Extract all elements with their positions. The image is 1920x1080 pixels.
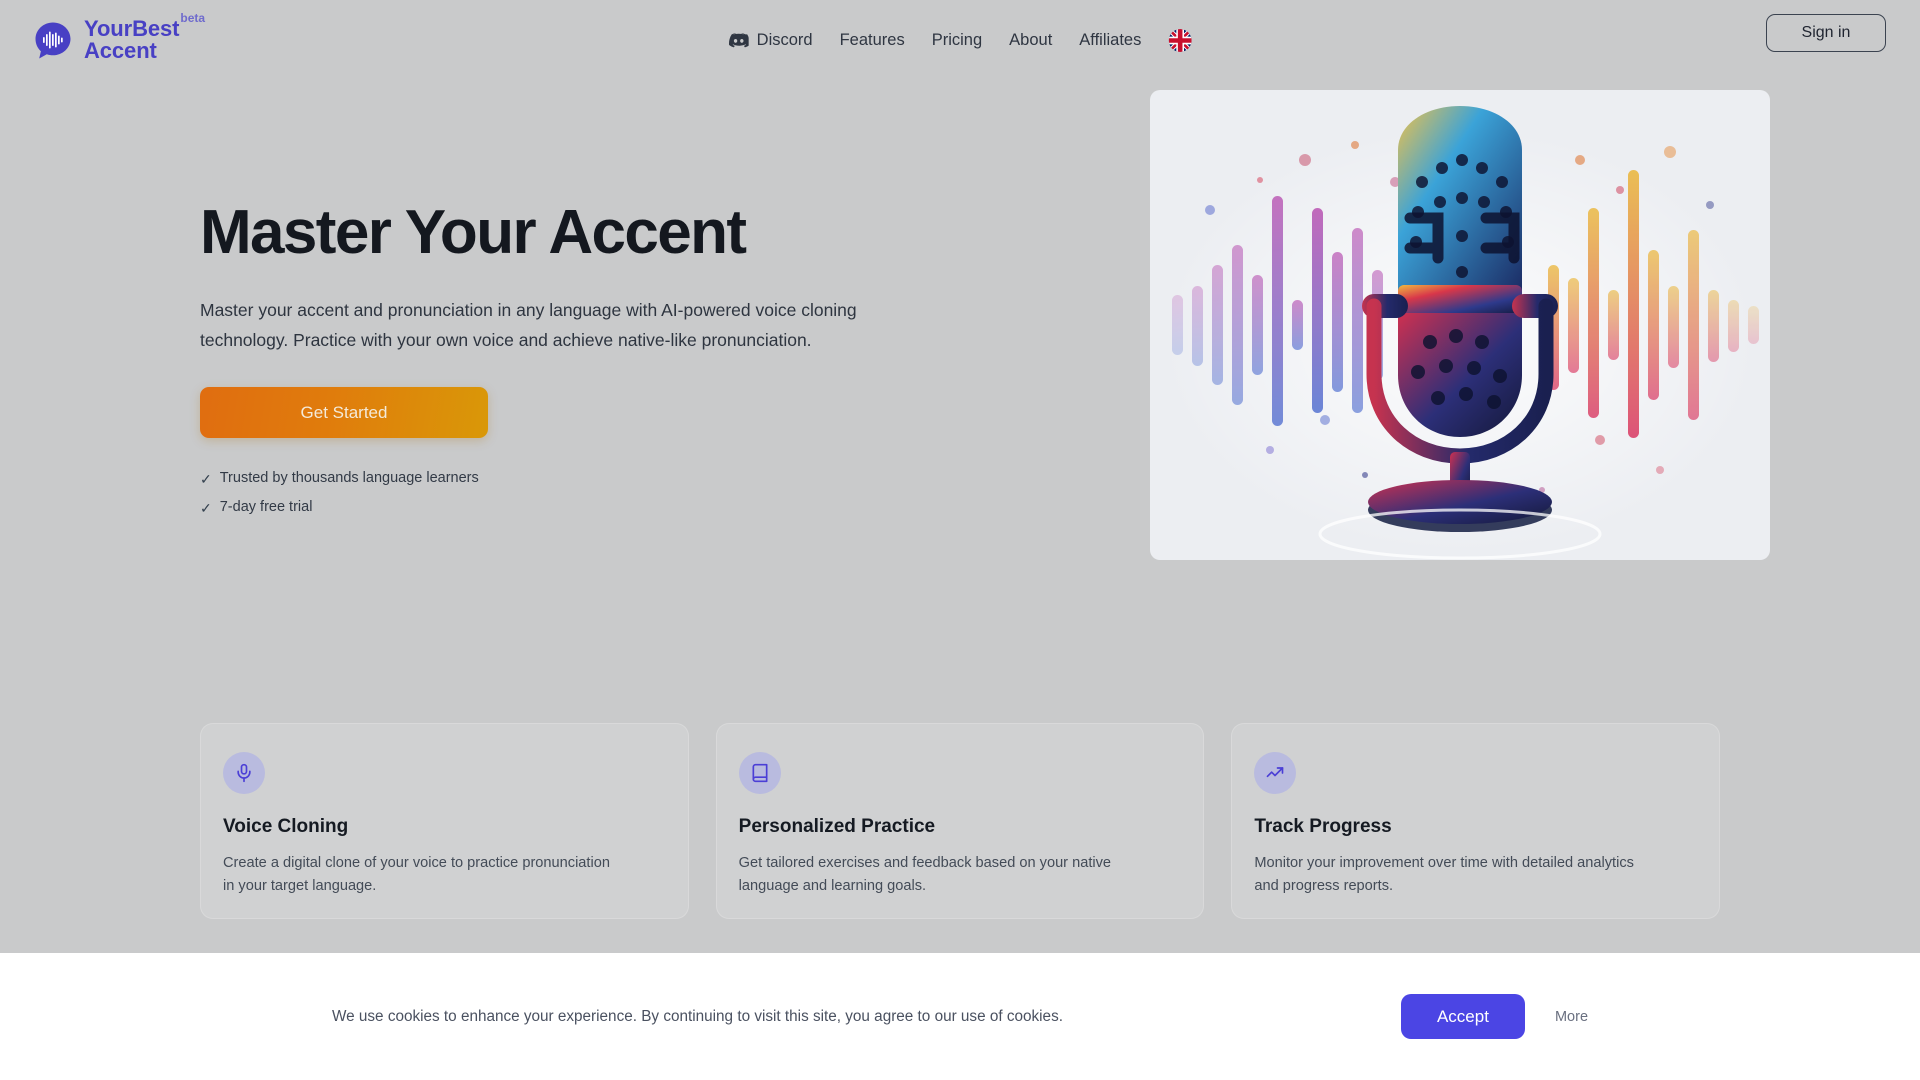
brand-name-line2: Accent xyxy=(84,40,179,62)
waveform-speech-bubble-icon xyxy=(34,21,72,59)
nav-item-discord[interactable]: Discord xyxy=(729,31,813,50)
nav-item-about[interactable]: About xyxy=(1009,31,1052,50)
discord-icon xyxy=(729,33,749,48)
cookie-message: We use cookies to enhance your experienc… xyxy=(332,1008,1063,1026)
feature-card-voice-cloning[interactable]: Voice Cloning Create a digital clone of … xyxy=(200,723,689,919)
feature-description: Monitor your improvement over time with … xyxy=(1254,852,1654,897)
trust-item-label: 7-day free trial xyxy=(220,493,313,522)
brand-name-line1: YourBest xyxy=(84,18,179,40)
feature-title: Personalized Practice xyxy=(739,816,1182,838)
hero-section: Master Your Accent Master your accent an… xyxy=(0,80,1920,720)
colorful-microphone-waveform-illustration xyxy=(1150,90,1770,560)
uk-flag-icon[interactable] xyxy=(1168,29,1191,52)
nav-item-features[interactable]: Features xyxy=(840,31,905,50)
page-title: Master Your Accent xyxy=(200,200,900,265)
cookie-consent-banner: We use cookies to enhance your experienc… xyxy=(0,953,1920,1080)
book-icon xyxy=(739,752,781,794)
site-header: YourBestbeta Accent Discord Features Pri… xyxy=(0,0,1920,80)
main-navigation: Discord Features Pricing About Affiliate… xyxy=(729,29,1192,52)
accept-cookies-button[interactable]: Accept xyxy=(1401,994,1525,1039)
feature-description: Create a digital clone of your voice to … xyxy=(223,852,623,897)
brand-wordmark: YourBestbeta Accent xyxy=(84,18,179,63)
nav-item-affiliates[interactable]: Affiliates xyxy=(1079,31,1141,50)
hero-subtitle: Master your accent and pronunciation in … xyxy=(200,295,900,355)
trust-item-label: Trusted by thousands language learners xyxy=(220,464,479,493)
feature-title: Track Progress xyxy=(1254,816,1697,838)
nav-item-label: Discord xyxy=(757,31,813,50)
cookie-actions: Accept More xyxy=(1401,994,1588,1039)
feature-card-personalized-practice[interactable]: Personalized Practice Get tailored exerc… xyxy=(716,723,1205,919)
microphone-icon xyxy=(223,752,265,794)
sign-in-button[interactable]: Sign in xyxy=(1766,14,1886,52)
brand-logo[interactable]: YourBestbeta Accent xyxy=(34,18,179,63)
trending-up-icon xyxy=(1254,752,1296,794)
cookie-more-link[interactable]: More xyxy=(1555,1009,1588,1025)
feature-description: Get tailored exercises and feedback base… xyxy=(739,852,1139,897)
nav-item-pricing[interactable]: Pricing xyxy=(932,31,982,50)
get-started-button[interactable]: Get Started xyxy=(200,387,488,438)
features-section: Voice Cloning Create a digital clone of … xyxy=(200,723,1720,919)
hero-copy: Master Your Accent Master your accent an… xyxy=(200,200,900,522)
check-icon: ✓ xyxy=(200,494,212,522)
feature-card-track-progress[interactable]: Track Progress Monitor your improvement … xyxy=(1231,723,1720,919)
feature-title: Voice Cloning xyxy=(223,816,666,838)
check-icon: ✓ xyxy=(200,465,212,493)
trust-list: ✓ Trusted by thousands language learners… xyxy=(200,464,900,522)
trust-item: ✓ Trusted by thousands language learners xyxy=(200,464,900,493)
beta-badge: beta xyxy=(180,12,205,24)
trust-item: ✓ 7-day free trial xyxy=(200,493,900,522)
